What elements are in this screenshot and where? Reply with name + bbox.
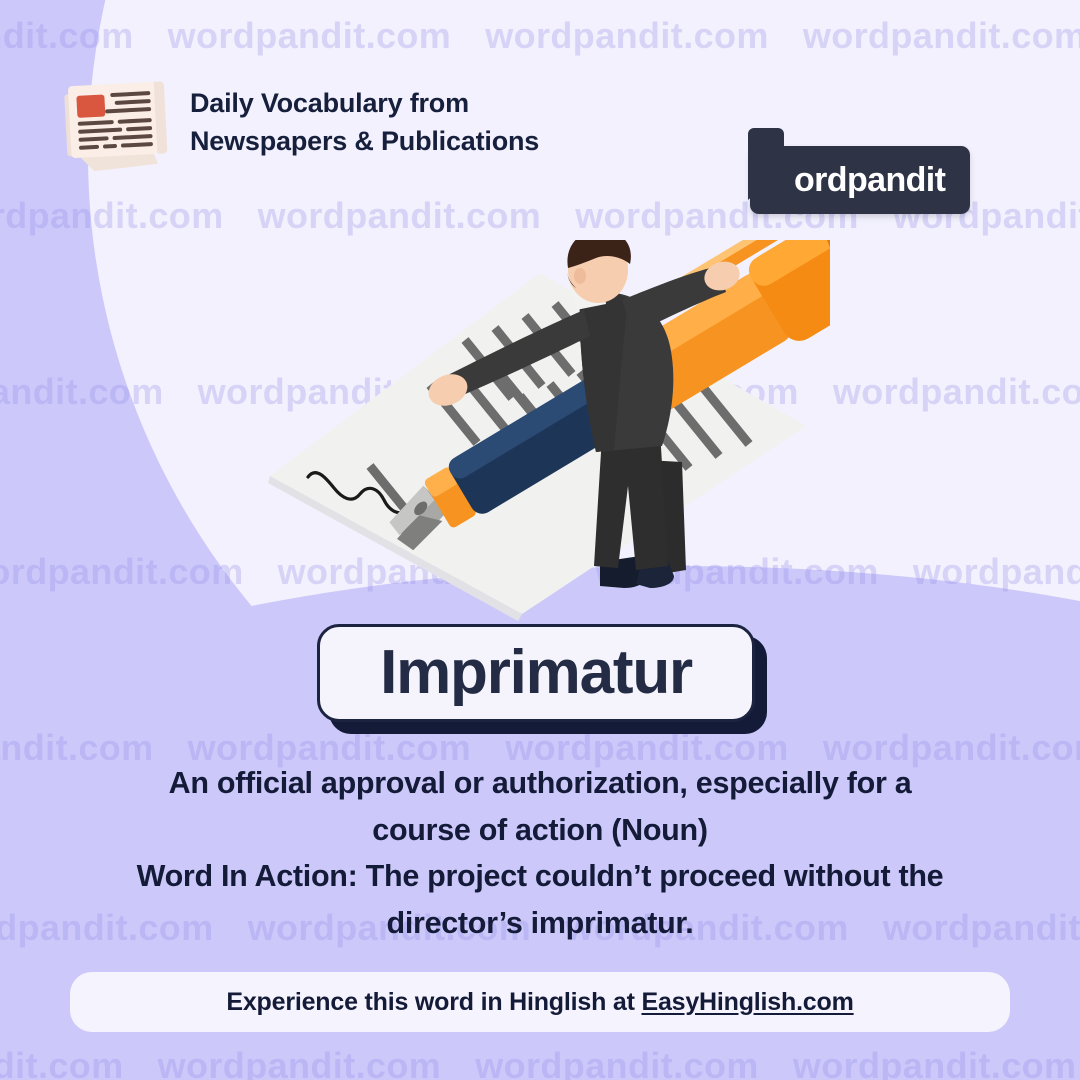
word-in-action-line-2: director’s imprimatur.	[30, 900, 1050, 947]
hinglish-banner[interactable]: Experience this word in Hinglish at Easy…	[70, 972, 1010, 1032]
logo-text: ordpandit	[794, 161, 945, 200]
wordpandit-logo[interactable]: ordpandit	[750, 146, 970, 214]
vocabulary-word: Imprimatur	[380, 642, 692, 704]
bookmark-icon	[748, 128, 784, 202]
banner-text: Experience this word in Hinglish at Easy…	[226, 988, 853, 1017]
vocabulary-word-box: Imprimatur	[317, 624, 755, 724]
definition-line-1: An official approval or authorization, e…	[30, 760, 1050, 807]
word-box: Imprimatur	[317, 624, 755, 722]
banner-prefix: Experience this word in Hinglish at	[226, 988, 641, 1016]
header-title-line2: Newspapers & Publications	[190, 122, 539, 160]
easyhinglish-link[interactable]: EasyHinglish.com	[641, 988, 853, 1016]
definition-line-2: course of action (Noun)	[30, 807, 1050, 854]
newspaper-icon	[56, 74, 172, 180]
illustration-man-signing-document	[250, 240, 830, 640]
ear	[574, 268, 586, 284]
vocabulary-card: wordpandit.comwordpandit.comwordpandit.c…	[0, 0, 1080, 1080]
card-header: Daily Vocabulary from Newspapers & Publi…	[0, 62, 1080, 182]
definition-block: An official approval or authorization, e…	[30, 760, 1050, 947]
header-title: Daily Vocabulary from Newspapers & Publi…	[190, 84, 539, 161]
header-title-line1: Daily Vocabulary from	[190, 88, 469, 118]
word-in-action-line-1: Word In Action: The project couldn’t pro…	[30, 853, 1050, 900]
